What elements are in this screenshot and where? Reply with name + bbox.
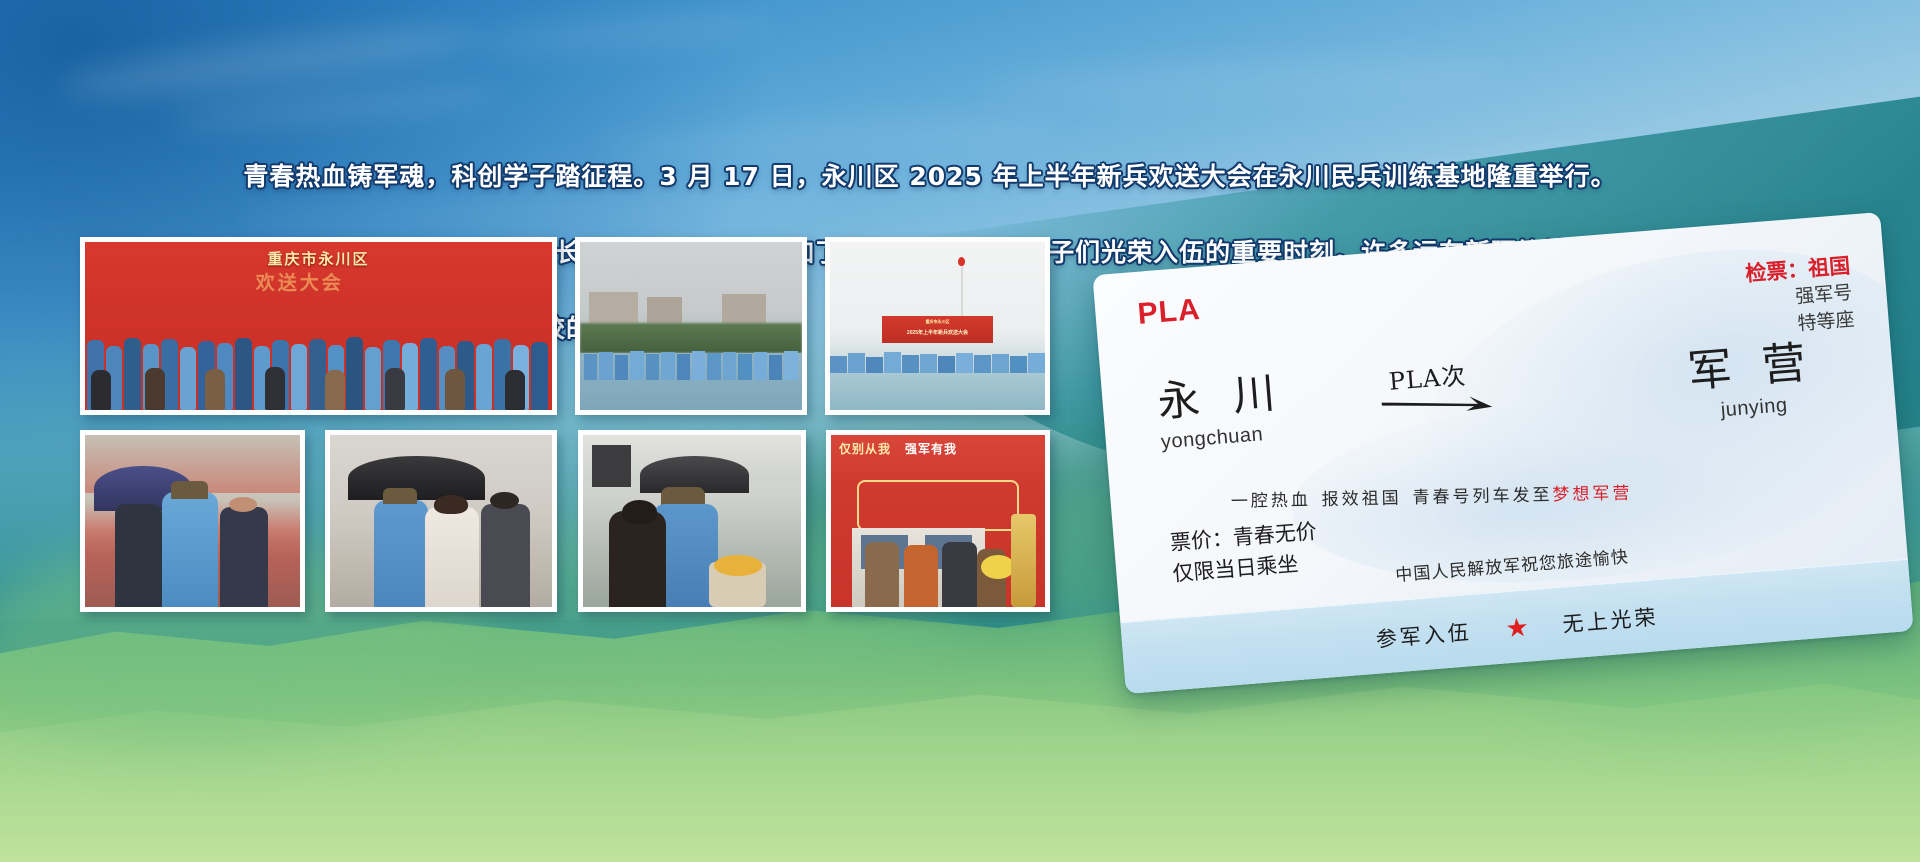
photo-group-photo-red-arch[interactable]: 仅别从我 强军有我	[826, 430, 1050, 612]
ticket-check-value: 祖国	[1807, 254, 1851, 281]
stage-banner-title: 重庆市永川区	[882, 319, 994, 325]
ticket-fare-label: 票价：	[1169, 526, 1234, 555]
flagpole	[961, 262, 963, 319]
photo-mother-son-embrace[interactable]	[578, 430, 806, 612]
photo-image: 重庆市永川区 欢送大会	[85, 242, 552, 410]
red-arch-frame	[857, 480, 1020, 532]
ticket-body: PLA 检票：祖国 强军号 特等座 永 川 yongchuan PLA次 军 营…	[1092, 212, 1913, 694]
photo-image	[583, 435, 801, 607]
band-text-left: 参军入伍	[1375, 616, 1473, 654]
poster-stage: 青春热血铸军魂，科创学子踏征程。3 月 17 日，永川区 2025 年上半年新兵…	[0, 0, 1920, 862]
photo-slogan-right: 强军有我	[905, 440, 957, 457]
photo-image	[580, 242, 802, 410]
ticket-train-number-text: PLA次	[1387, 356, 1467, 397]
photo-family-farewell-umbrella[interactable]	[325, 430, 557, 612]
photo-farewell-umbrella-couple[interactable]	[80, 430, 305, 612]
ticket-check-label: 检票：	[1744, 257, 1809, 286]
photo-gallery: 重庆市永川区 欢送大会	[0, 0, 1100, 862]
photo-banner-subtitle: 欢送大会	[256, 268, 344, 295]
ticket-slogan-b: 报效祖国	[1321, 488, 1401, 510]
red-star-icon: ★	[1504, 613, 1529, 641]
photo-image: 重庆市永川区 2025年上半年新兵欢送大会	[830, 242, 1045, 410]
crowd-figures	[85, 292, 552, 410]
ticket-destination-station: 军 营 junying	[1685, 326, 1818, 425]
flag-ornament	[958, 257, 965, 266]
ticket-origin-station: 永 川 yongchuan	[1155, 358, 1289, 454]
stage-banner-subtitle: 2025年上半年新兵欢送大会	[882, 329, 994, 336]
photo-formation-with-stage-banner[interactable]: 重庆市永川区 2025年上半年新兵欢送大会	[825, 237, 1050, 415]
photo-recruits-formation-rain[interactable]	[575, 237, 807, 415]
photo-image	[85, 435, 300, 607]
photo-group-photo-red-backdrop[interactable]: 重庆市永川区 欢送大会	[80, 237, 557, 415]
photo-image	[330, 435, 552, 607]
ticket-destination-cn: 军 营	[1685, 326, 1816, 400]
ticket-slogan-d: 梦想军营	[1552, 484, 1632, 506]
ticket-fare-value: 青春无价	[1232, 519, 1318, 550]
photo-banner-title: 重庆市永川区	[267, 248, 369, 269]
band-text-right: 无上光荣	[1561, 601, 1659, 639]
ticket-origin-cn: 永 川	[1155, 358, 1287, 429]
ticket-slogan-a: 一腔热血	[1231, 490, 1311, 512]
ticket-slogan-c: 青春号列车发至	[1412, 485, 1552, 508]
umbrella-icon	[348, 456, 486, 501]
photo-slogan-left: 仅别从我	[839, 440, 891, 457]
ticket-brand-label: PLA	[1136, 293, 1202, 332]
ticket-train-number: PLA次	[1387, 356, 1467, 397]
stage-banner: 重庆市永川区 2025年上半年新兵欢送大会	[882, 316, 994, 343]
photo-image: 仅别从我 强军有我	[831, 435, 1045, 607]
train-ticket-card[interactable]: PLA 检票：祖国 强军号 特等座 永 川 yongchuan PLA次 军 营…	[1092, 212, 1913, 694]
